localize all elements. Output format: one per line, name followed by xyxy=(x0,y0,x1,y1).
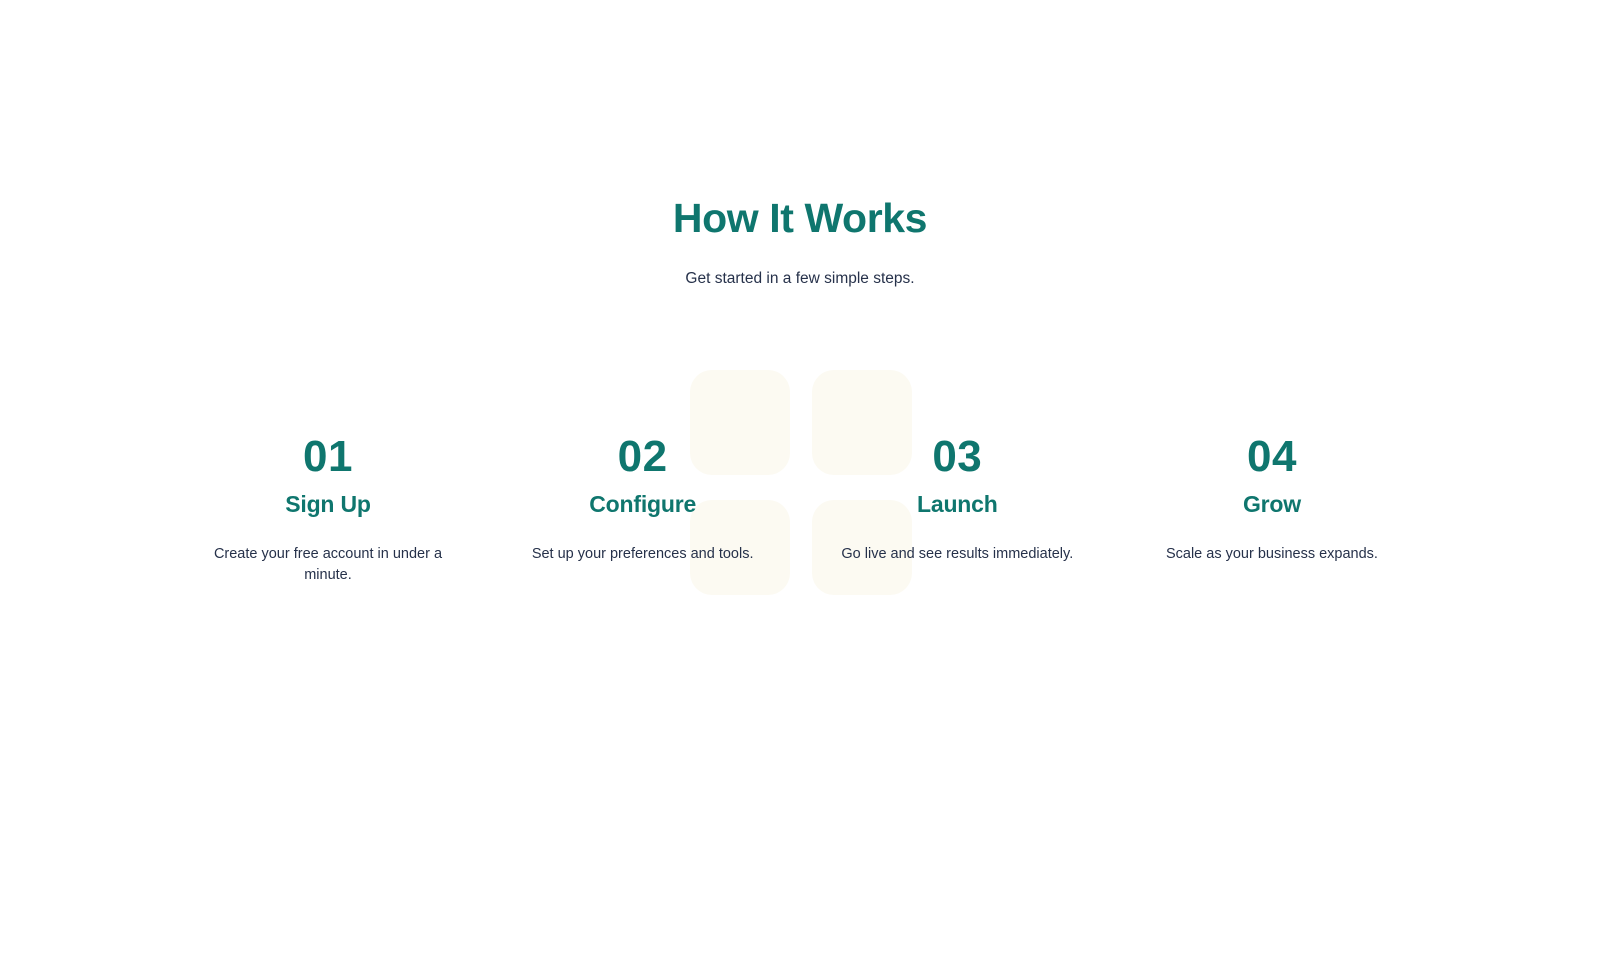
step-title-2: Configure xyxy=(491,489,795,519)
steps-list: 01 Sign Up Create your free account in u… xyxy=(176,430,1424,586)
page-subtitle: Get started in a few simple steps. xyxy=(0,268,1600,290)
page-title: How It Works xyxy=(0,192,1600,244)
step-description-1: Create your free account in under a minu… xyxy=(208,544,448,586)
step-number-2: 02 xyxy=(491,430,795,484)
step-number-4: 04 xyxy=(1120,430,1424,484)
step-description-3: Go live and see results immediately. xyxy=(837,544,1077,565)
step-number-1: 01 xyxy=(176,430,480,484)
step-description-4: Scale as your business expands. xyxy=(1152,544,1392,565)
step-item-4: 04 Grow Scale as your business expands. xyxy=(1120,430,1424,565)
step-item-3: 03 Launch Go live and see results immedi… xyxy=(805,430,1109,565)
step-number-3: 03 xyxy=(805,430,1109,484)
step-title-1: Sign Up xyxy=(176,489,480,519)
step-title-4: Grow xyxy=(1120,489,1424,519)
step-item-1: 01 Sign Up Create your free account in u… xyxy=(176,430,480,586)
step-item-2: 02 Configure Set up your preferences and… xyxy=(491,430,795,565)
step-title-3: Launch xyxy=(805,489,1109,519)
step-description-2: Set up your preferences and tools. xyxy=(523,544,763,565)
how-it-works-section: How It Works Get started in a few simple… xyxy=(0,0,1600,978)
